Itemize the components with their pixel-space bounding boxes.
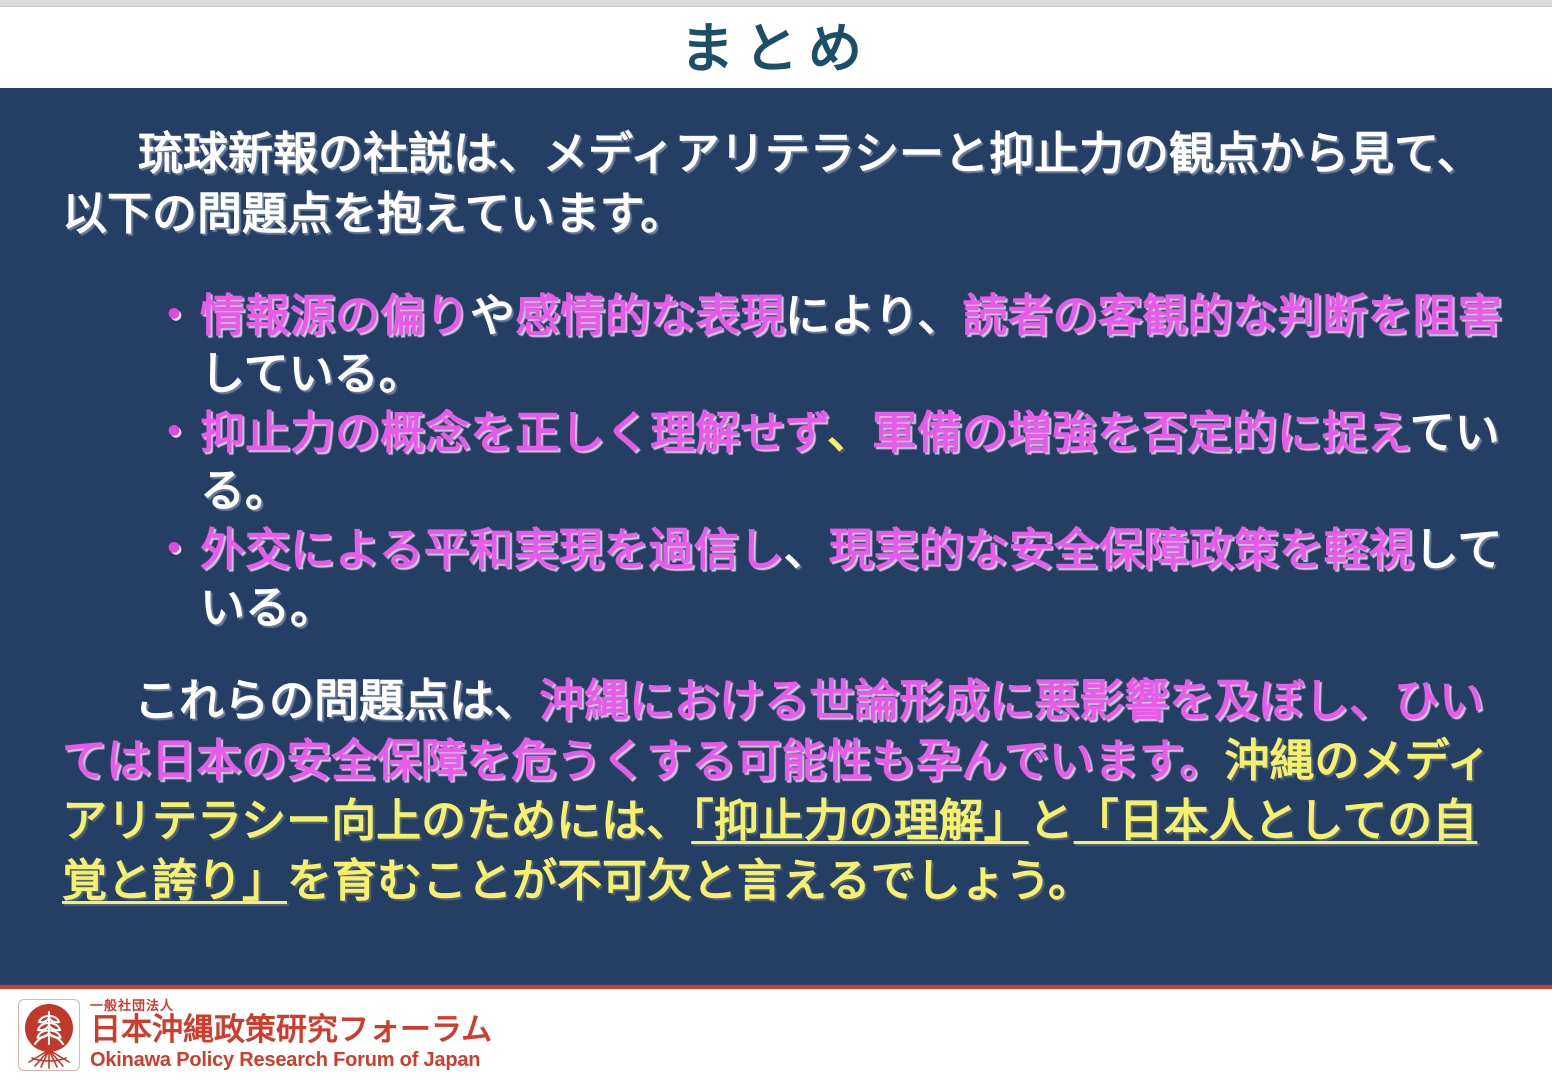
bullet-text-segment: 、: [784, 525, 829, 575]
bullet-item: ・情報源の偏りや感情的な表現により、読者の客観的な判断を阻害している。: [152, 288, 1542, 403]
bullet-text-segment: 感情的な表現: [515, 291, 785, 341]
bullet-text-segment: や: [470, 291, 515, 341]
bullet-item: ・抑止力の概念を正しく理解せず、軍備の増強を否定的に捉えている。: [152, 405, 1542, 520]
logo-name-japanese: 日本沖縄政策研究フォーラム: [90, 1014, 492, 1047]
slide-root: まとめ 琉球新報の社説は、メディアリテラシーと抑止力の観点から見て、以下の問題点…: [0, 0, 1552, 1084]
logo-name-english: Okinawa Policy Research Forum of Japan: [90, 1049, 492, 1071]
bullet-text-segment: 現実的な安全保障政策を軽視: [829, 525, 1414, 575]
bullet-text: 情報源の偏りや感情的な表現により、読者の客観的な判断を阻害している。: [200, 288, 1542, 403]
closing-text-segment: 「抑止力の理解」: [691, 796, 1029, 846]
bullet-text: 外交による平和実現を過信し、現実的な安全保障政策を軽視している。: [200, 522, 1542, 637]
title-band: まとめ: [0, 8, 1552, 88]
page-title: まとめ: [680, 21, 872, 75]
bullet-text-segment: 読者の客観的な判断を阻害: [962, 291, 1502, 341]
bullet-marker-icon: ・: [152, 522, 200, 578]
wheat-circle-emblem-icon: [18, 999, 80, 1071]
bullet-text-segment: 外交による平和実現を過信し: [200, 525, 784, 575]
organization-logo: 一般社団法人 日本沖縄政策研究フォーラム Okinawa Policy Rese…: [18, 999, 492, 1071]
closing-text-segment: を育むことが不可欠と言えるでしょう。: [287, 856, 1093, 906]
bullet-text-segment: 、: [827, 408, 872, 458]
closing-text-segment: と: [1029, 796, 1074, 846]
top-edge-strip: [0, 0, 1552, 7]
bullet-item: ・外交による平和実現を過信し、現実的な安全保障政策を軽視している。: [152, 522, 1542, 637]
bullet-text-segment: している。: [200, 349, 424, 399]
logo-text-block: 一般社団法人 日本沖縄政策研究フォーラム Okinawa Policy Rese…: [90, 999, 492, 1071]
bullet-text-segment: 情報源の偏り: [200, 291, 470, 341]
bullet-list: ・情報源の偏りや感情的な表現により、読者の客観的な判断を阻害している。・抑止力の…: [152, 288, 1542, 640]
slide-body-panel: 琉球新報の社説は、メディアリテラシーと抑止力の観点から見て、以下の問題点を抱えて…: [0, 88, 1552, 985]
closing-paragraph: これらの問題点は、沖縄における世論形成に悪影響を及ぼし、ひいては日本の安全保障を…: [62, 672, 1522, 911]
bullet-text: 抑止力の概念を正しく理解せず、軍備の増強を否定的に捉えている。: [200, 405, 1542, 520]
intro-paragraph: 琉球新報の社説は、メディアリテラシーと抑止力の観点から見て、以下の問題点を抱えて…: [62, 124, 1502, 245]
bullet-marker-icon: ・: [152, 288, 200, 344]
bullet-text-segment: 軍備の増強を否定的に捉え: [872, 408, 1410, 458]
bullet-text-segment: により、: [785, 291, 962, 341]
closing-text-segment: これらの問題点は、: [134, 676, 539, 726]
bullet-marker-icon: ・: [152, 405, 200, 461]
footer-bar: 一般社団法人 日本沖縄政策研究フォーラム Okinawa Policy Rese…: [0, 985, 1552, 1084]
bullet-text-segment: 抑止力の概念を正しく理解せず: [200, 408, 827, 458]
logo-kicker: 一般社団法人: [90, 999, 492, 1013]
